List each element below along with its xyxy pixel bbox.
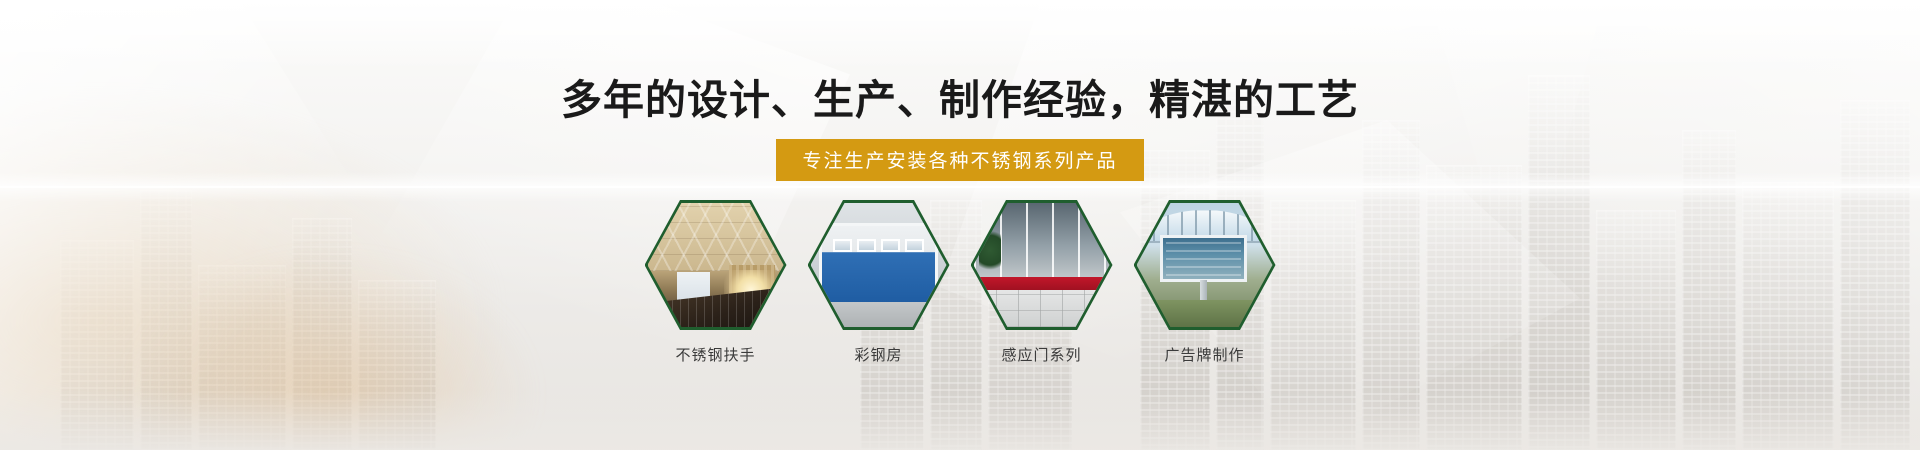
hexagon-photo-mask bbox=[811, 203, 947, 327]
banner-subtitle-row: 专注生产安装各种不锈钢系列产品 bbox=[0, 139, 1920, 181]
product-label: 彩钢房 bbox=[854, 344, 902, 365]
hexagon-photo-mask bbox=[974, 203, 1110, 327]
sensor-door-photo bbox=[974, 203, 1110, 327]
banner-content: 多年的设计、生产、制作经验，精湛的工艺 专注生产安装各种不锈钢系列产品 不锈钢扶… bbox=[0, 0, 1920, 450]
hexagon-frame[interactable] bbox=[1134, 200, 1276, 330]
banner-headline: 多年的设计、生产、制作经验，精湛的工艺 bbox=[0, 76, 1920, 125]
product-hexagon-row: 不锈钢扶手 彩钢房 bbox=[0, 200, 1920, 365]
hexagon-frame[interactable] bbox=[808, 200, 950, 330]
product-item-sensor-door[interactable]: 感应门系列 bbox=[971, 200, 1113, 365]
promo-banner: 多年的设计、生产、制作经验，精湛的工艺 专注生产安装各种不锈钢系列产品 不锈钢扶… bbox=[0, 0, 1920, 450]
banner-subtitle-badge: 专注生产安装各种不锈钢系列产品 bbox=[776, 139, 1143, 181]
product-item-color-steel-house[interactable]: 彩钢房 bbox=[808, 200, 950, 365]
hexagon-frame[interactable] bbox=[645, 200, 787, 330]
product-label: 感应门系列 bbox=[1001, 344, 1081, 365]
product-item-handrail[interactable]: 不锈钢扶手 bbox=[645, 200, 787, 365]
hexagon-photo-mask bbox=[1137, 203, 1273, 327]
handrail-photo bbox=[648, 203, 784, 327]
billboard-photo bbox=[1137, 203, 1273, 327]
product-label: 不锈钢扶手 bbox=[675, 344, 755, 365]
product-item-billboard[interactable]: 广告牌制作 bbox=[1134, 200, 1276, 365]
product-label: 广告牌制作 bbox=[1164, 344, 1244, 365]
hexagon-frame[interactable] bbox=[971, 200, 1113, 330]
color-steel-house-photo bbox=[811, 203, 947, 327]
hexagon-photo-mask bbox=[648, 203, 784, 327]
